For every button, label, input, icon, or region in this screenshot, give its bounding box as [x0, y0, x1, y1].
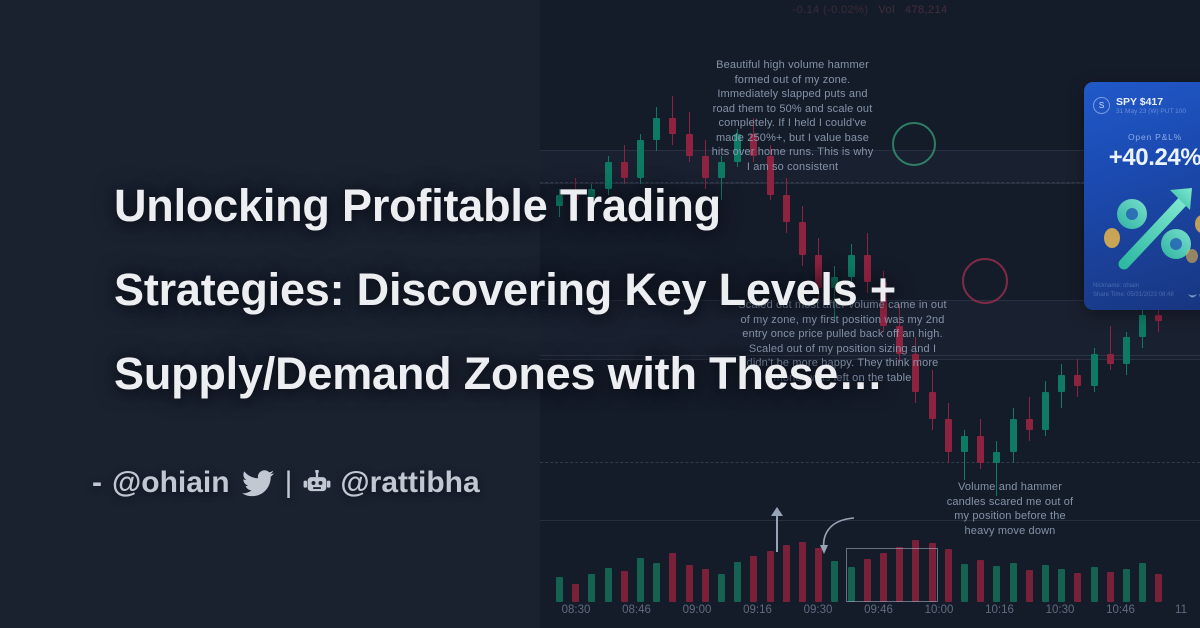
platform-handle: @rattibha — [340, 466, 479, 500]
social-share-card: -0.14 (-0.02%) Vol 478,214 08:3008:4609:… — [0, 0, 1200, 628]
page-title: Unlocking Profitable Trading Strategies:… — [114, 164, 1114, 416]
title-line-2: Strategies: Discovering Key Levels + — [114, 248, 1114, 332]
title-line-1: Unlocking Profitable Trading — [114, 164, 1114, 248]
attribution-separator: | — [285, 466, 293, 500]
attribution: - @ohiain | @rattib — [92, 466, 480, 500]
title-line-3: Supply/Demand Zones with These… — [114, 332, 1114, 416]
twitter-bird-icon — [242, 470, 274, 497]
attribution-dash: - — [92, 466, 102, 500]
foreground-layer: Unlocking Profitable Trading Strategies:… — [0, 0, 1200, 628]
author-handle: @ohiain — [112, 466, 230, 500]
robot-icon — [303, 470, 331, 496]
